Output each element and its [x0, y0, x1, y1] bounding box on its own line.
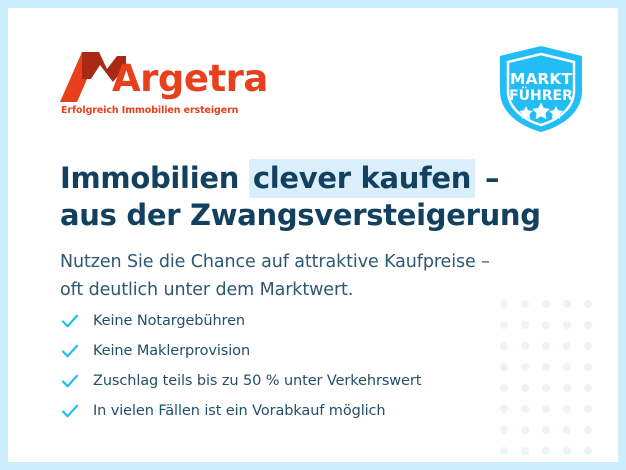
decorative-dot	[563, 342, 571, 350]
decorative-dot	[584, 363, 592, 371]
decorative-dot	[542, 426, 550, 434]
decorative-dot	[563, 447, 571, 455]
feature-label: Keine Maklerprovision	[93, 343, 250, 359]
logo-wordmark: Argetra	[112, 60, 268, 97]
decorative-dot	[563, 405, 571, 413]
check-icon	[60, 401, 80, 421]
decorative-dot	[500, 447, 508, 455]
decorative-dot	[563, 426, 571, 434]
list-item: In vielen Fällen ist ein Vorabkauf mögli…	[60, 396, 540, 426]
decorative-dot	[584, 405, 592, 413]
list-item: Keine Maklerprovision	[60, 336, 540, 366]
list-item: Keine Notargebühren	[60, 306, 540, 336]
decorative-dot	[584, 426, 592, 434]
subheading-line-1: Nutzen Sie die Chance auf attraktive Kau…	[60, 248, 580, 276]
headline-text-after: –	[475, 161, 499, 195]
decorative-dot	[584, 321, 592, 329]
decorative-dot	[542, 384, 550, 392]
argetra-logo: Argetra Erfolgreich Immobilien ersteiger…	[60, 52, 290, 120]
decorative-dot	[542, 342, 550, 350]
decorative-dot	[584, 342, 592, 350]
decorative-dot	[542, 321, 550, 329]
decorative-dot	[521, 447, 529, 455]
decorative-dot	[542, 447, 550, 455]
check-icon	[60, 341, 80, 361]
headline-highlight: clever kaufen	[249, 159, 475, 198]
feature-list: Keine Notargebühren Keine Maklerprovisio…	[60, 306, 540, 426]
badge-line1: MARKT	[510, 70, 572, 88]
page-title: Immobilien clever kaufen – aus der Zwang…	[60, 160, 580, 234]
decorative-dot	[521, 426, 529, 434]
decorative-dot	[563, 321, 571, 329]
feature-label: Keine Notargebühren	[93, 313, 245, 329]
logo-tagline: Erfolgreich Immobilien ersteigern	[61, 105, 238, 116]
headline-line-1: Immobilien clever kaufen –	[60, 160, 580, 197]
list-item: Zuschlag teils bis zu 50 % unter Verkehr…	[60, 366, 540, 396]
decorative-dot	[584, 384, 592, 392]
decorative-dot	[584, 447, 592, 455]
check-icon	[60, 311, 80, 331]
decorative-dot	[542, 405, 550, 413]
decorative-dot	[542, 363, 550, 371]
feature-label: In vielen Fällen ist ein Vorabkauf mögli…	[93, 403, 386, 419]
feature-label: Zuschlag teils bis zu 50 % unter Verkehr…	[93, 373, 421, 389]
decorative-dot	[500, 426, 508, 434]
markt-fuehrer-badge: MARKT FÜHRER	[495, 43, 587, 135]
banner-card: Argetra Erfolgreich Immobilien ersteiger…	[8, 8, 618, 462]
subheading: Nutzen Sie die Chance auf attraktive Kau…	[60, 248, 580, 304]
badge-line2: FÜHRER	[509, 86, 573, 104]
headline-line-2: aus der Zwangsversteigerung	[60, 197, 580, 234]
decorative-dot	[563, 363, 571, 371]
check-icon	[60, 371, 80, 391]
decorative-dot	[584, 300, 592, 308]
subheading-line-2: oft deutlich unter dem Marktwert.	[60, 276, 580, 304]
decorative-dot	[563, 384, 571, 392]
promo-banner: Argetra Erfolgreich Immobilien ersteiger…	[0, 0, 626, 470]
headline-text-before: Immobilien	[60, 161, 249, 195]
